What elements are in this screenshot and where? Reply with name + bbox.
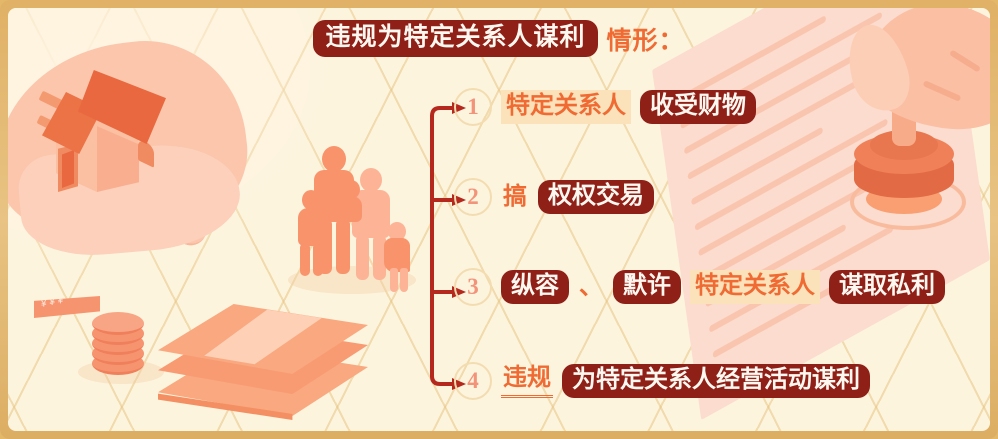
figure-head: [360, 168, 382, 192]
coin-stack: [92, 308, 148, 376]
figure-body: [298, 208, 324, 246]
item-number-badge: 3: [454, 268, 492, 306]
item-segment-chip: 纵容: [501, 270, 569, 305]
figure-body: [384, 238, 410, 272]
item-number-badge: 4: [454, 362, 492, 400]
item-segment-punctuation: 、: [578, 273, 604, 302]
poster-canvas: 违规为特定关系人谋利 情形：: [8, 8, 990, 431]
item-segment-chip: 权权交易: [538, 180, 654, 215]
figure-leg: [356, 236, 369, 280]
infographic-poster: 违规为特定关系人谋利 情形：: [0, 0, 998, 439]
item-segment-underlined: 违规: [501, 364, 553, 399]
item-segment-highlight: 特定关系人: [690, 270, 820, 304]
figure-leg: [313, 244, 323, 276]
coin-icon: [92, 312, 144, 335]
family-group-illustration: [284, 140, 420, 298]
item-number-badge: 1: [454, 88, 492, 126]
figure-body: [340, 196, 362, 222]
item-segment-highlight: 特定关系人: [501, 90, 631, 124]
list-item[interactable]: 4 违规 为特定关系人经营活动谋利: [454, 362, 870, 400]
list-item[interactable]: 3 纵容 、 默许 特定关系人 谋取私利: [454, 268, 945, 306]
list-item[interactable]: 2 搞 权权交易: [454, 178, 654, 216]
figure-head: [322, 146, 346, 172]
item-segment-chip: 默许: [613, 270, 681, 305]
branch-bracket: [422, 102, 468, 390]
item-segment-chip: 收受财物: [640, 90, 756, 125]
figure-head: [302, 190, 320, 210]
title-tail: 情形：: [602, 21, 685, 57]
item-segment-plain: 搞: [501, 183, 529, 212]
list-item[interactable]: 1 特定关系人 收受财物: [454, 88, 756, 126]
yen-price-tag-icon: [34, 296, 100, 318]
item-segment-chip: 谋取私利: [829, 270, 945, 305]
figure-leg: [400, 268, 408, 292]
figure-leg: [390, 268, 398, 292]
item-number-badge: 2: [454, 178, 492, 216]
figure-leg: [300, 244, 310, 276]
item-segment-chip: 为特定关系人经营活动谋利: [562, 364, 870, 399]
figure-leg: [336, 220, 350, 274]
house-door-inner: [62, 150, 74, 188]
hand-holding-house-illustration: [8, 22, 296, 272]
poster-title: 违规为特定关系人谋利 情形：: [8, 20, 990, 57]
title-chip: 违规为特定关系人谋利: [313, 20, 597, 57]
